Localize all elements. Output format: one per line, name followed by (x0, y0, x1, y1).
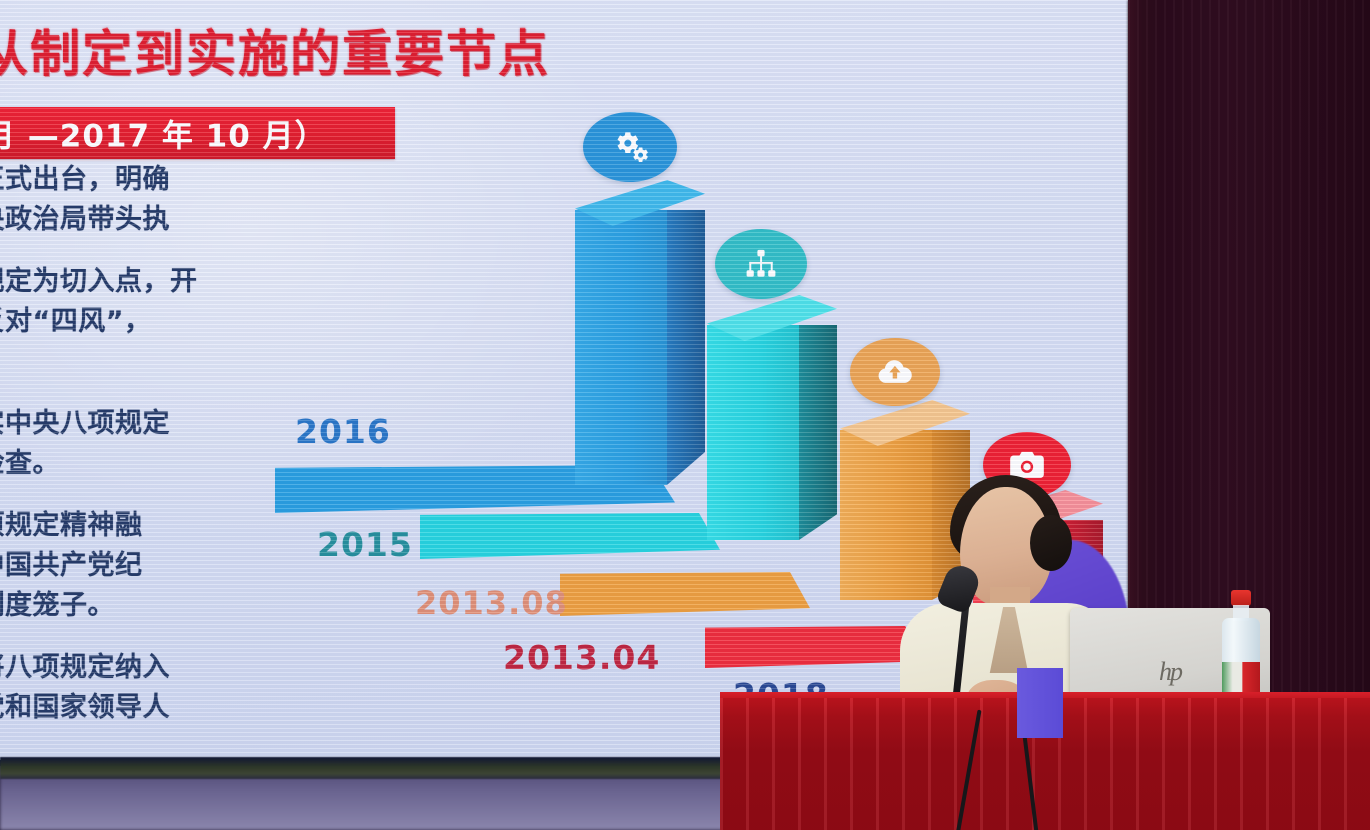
presenter-area: hp (880, 440, 1370, 830)
bar-front-face (1017, 668, 1063, 738)
hair-bun (1030, 515, 1072, 571)
paragraph-line: 项规定为切入点，开 (0, 262, 250, 302)
slide-body-column: 定正式出台，明确 中央政治局带头执 项规定为切入点，开 焦反对“四风”， 。 落… (0, 160, 250, 728)
bottle-cap (1231, 590, 1251, 606)
bar-label-2013-04: 2013.04 (503, 638, 660, 677)
slide-paragraph: 落实中央八项规定 足检查。 (0, 404, 250, 484)
paragraph-line: 范党和国家领导人 (0, 688, 250, 728)
bar-2018 (1017, 668, 1063, 738)
bar-icon-badge-2013-08 (850, 338, 940, 406)
bar-label-2015: 2015 (317, 525, 413, 564)
bar-label-2013-08: 2013.08 (415, 584, 568, 622)
sitemap-icon (741, 246, 781, 282)
bar-icon-badge-2015 (715, 229, 807, 299)
bar-front-face (575, 210, 667, 485)
paragraph-line: 落实中央八项规定 (0, 404, 250, 444)
slide-title: 从制定到实施的重要节点 (0, 14, 550, 86)
screenshot-scene: 从制定到实施的重要节点 月 —2017 年 10 月） 定正式出台，明确 中央政… (0, 0, 1370, 830)
bar-2015 (707, 325, 799, 540)
cloud-upload-icon (874, 355, 916, 389)
laptop-brand-logo: hp (1159, 657, 1181, 687)
paragraph-line: 紧制度笼子。 (0, 586, 250, 626)
baseline-strip-2013-08 (560, 572, 810, 616)
paragraph-line: 焦反对“四风”， (0, 302, 250, 342)
paragraph-line: 八项规定精神融 (0, 506, 250, 546)
gears-icon (608, 127, 652, 167)
bar-2016 (575, 210, 667, 485)
slide-paragraph: 会将八项规定纳入 范党和国家领导人 (0, 648, 250, 728)
bar-front-face (707, 325, 799, 540)
bar-side-face (667, 210, 705, 485)
bar-icon-badge-2016 (583, 112, 677, 182)
bar-side-face (799, 325, 837, 540)
paragraph-line: 《中国共产党纪 (0, 546, 250, 586)
slide-paragraph: 定正式出台，明确 中央政治局带头执 (0, 160, 250, 240)
paragraph-line: 会将八项规定纳入 (0, 648, 250, 688)
bar-label-2016: 2016 (295, 412, 391, 451)
baseline-strip-2015 (420, 513, 720, 559)
slide-paragraph: 项规定为切入点，开 焦反对“四风”， 。 (0, 262, 250, 382)
paragraph-line: 。 (0, 342, 250, 382)
paragraph-line: 中央政治局带头执 (0, 200, 250, 240)
paragraph-line: 定正式出台，明确 (0, 160, 250, 200)
slide-paragraph: 八项规定精神融 《中国共产党纪 紧制度笼子。 (0, 506, 250, 626)
paragraph-line: 足检查。 (0, 444, 250, 484)
